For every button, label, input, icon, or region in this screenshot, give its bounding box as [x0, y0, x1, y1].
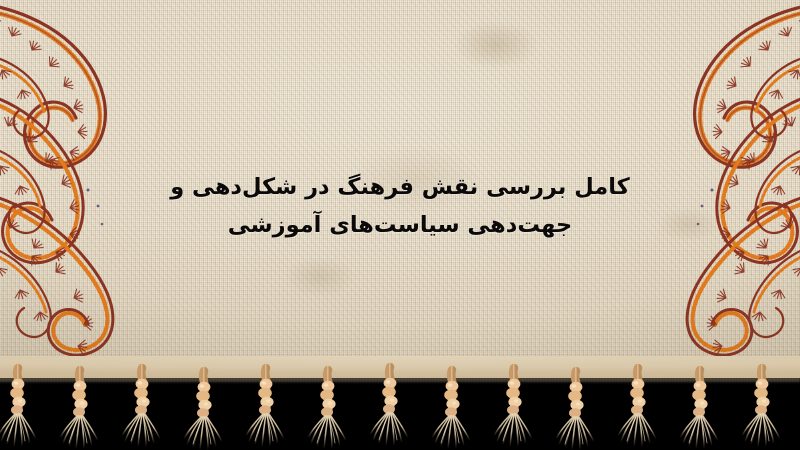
title-line-2: جهت‌دهی سیاست‌های آموزشی: [0, 206, 800, 244]
knotted-tassel-fringe: [0, 352, 800, 450]
page-title: کامل بررسی نقش فرهنگ در شکل‌دهی و جهت‌ده…: [0, 168, 800, 244]
slide-canvas: کامل بررسی نقش فرهنگ در شکل‌دهی و جهت‌ده…: [0, 0, 800, 450]
title-line-1: کامل بررسی نقش فرهنگ در شکل‌دهی و: [0, 168, 800, 206]
